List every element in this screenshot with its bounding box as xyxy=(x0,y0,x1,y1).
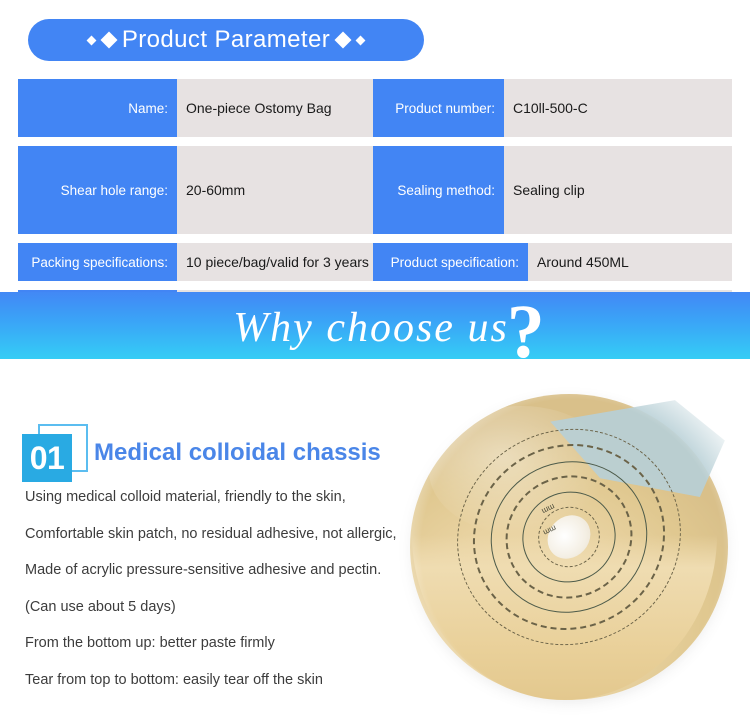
table-cell-pair-left: Name: One-piece Ostomy Bag xyxy=(18,79,373,137)
param-value-sealing-method: Sealing clip xyxy=(504,146,732,234)
feature-title: Medical colloidal chassis xyxy=(94,441,381,465)
table-row: Packing specifications: 10 piece/bag/val… xyxy=(18,243,732,281)
parameter-table: Name: One-piece Ostomy Bag Product numbe… xyxy=(18,79,732,328)
list-item: Made of acrylic pressure-sensitive adhes… xyxy=(25,563,445,578)
small-diamond-icon xyxy=(86,35,96,45)
param-label-name: Name: xyxy=(18,79,177,137)
param-label-sealing-method: Sealing method: xyxy=(373,146,504,234)
list-item: Comfortable skin patch, no residual adhe… xyxy=(25,527,445,542)
feature-bullet-list: Using medical colloid material, friendly… xyxy=(25,490,445,687)
page-title: Product Parameter xyxy=(122,28,330,52)
list-item: Tear from top to bottom: easily tear off… xyxy=(25,673,445,688)
feature-heading: 01 Medical colloidal chassis xyxy=(22,424,381,482)
title-pill: Product Parameter xyxy=(28,19,424,61)
product-photo: mm mm xyxy=(398,380,746,720)
table-cell-pair-right: Product specification: Around 450ML xyxy=(373,243,732,281)
why-banner-inner: Why choose us ? xyxy=(0,292,750,359)
param-value-product-number: C10ll-500-C xyxy=(504,79,732,137)
table-row: Name: One-piece Ostomy Bag Product numbe… xyxy=(18,79,78,137)
large-diamond-icon xyxy=(335,32,352,49)
small-diamond-icon xyxy=(356,35,366,45)
list-item: Using medical colloid material, friendly… xyxy=(25,490,445,505)
feature-section-01: 01 Medical colloidal chassis Using medic… xyxy=(0,372,750,725)
table-row: Shear hole range: 20-60mm Sealing method… xyxy=(18,146,110,234)
param-value-name: One-piece Ostomy Bag xyxy=(177,79,373,137)
table-cell-pair-left: Packing specifications: 10 piece/bag/val… xyxy=(18,243,373,281)
param-value-shear-hole-range: 20-60mm xyxy=(177,146,373,234)
left-diamond-group xyxy=(88,34,115,46)
question-mark-glyph: ? xyxy=(507,294,545,360)
large-diamond-icon xyxy=(100,32,117,49)
param-value-packing-specifications: 10 piece/bag/valid for 3 years xyxy=(177,243,373,281)
colloidal-wafer: mm mm xyxy=(410,394,728,700)
feature-number: 01 xyxy=(30,442,65,474)
table-cell-pair-right: Product number: C10ll-500-C xyxy=(373,79,732,137)
why-choose-us-banner: Why choose us ? xyxy=(0,292,750,359)
why-choose-us-text: Why choose us xyxy=(233,307,509,349)
list-item: From the bottom up: better paste firmly xyxy=(25,636,445,651)
param-label-product-number: Product number: xyxy=(373,79,504,137)
product-parameter-title-banner: Product Parameter xyxy=(28,19,424,61)
param-label-shear-hole-range: Shear hole range: xyxy=(18,146,177,234)
param-label-product-specification: Product specification: xyxy=(373,243,528,281)
param-label-packing-specifications: Packing specifications: xyxy=(18,243,177,281)
table-cell-pair-left: Shear hole range: 20-60mm xyxy=(18,146,373,234)
feature-number-badge: 01 xyxy=(22,424,88,482)
list-item: (Can use about 5 days) xyxy=(25,600,445,615)
param-value-product-specification: Around 450ML xyxy=(528,243,732,281)
right-diamond-group xyxy=(337,34,364,46)
badge-front-square: 01 xyxy=(22,434,72,482)
table-cell-pair-right: Sealing method: Sealing clip xyxy=(373,146,732,234)
